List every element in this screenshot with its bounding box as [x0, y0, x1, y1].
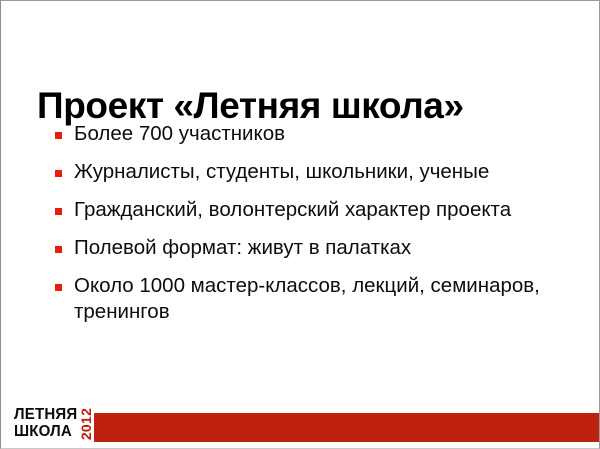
list-item: Гражданский, волонтерский характер проек…: [51, 197, 571, 223]
list-item-label: Полевой формат: живут в палатках: [74, 235, 571, 261]
list-item: Полевой формат: живут в палатках: [51, 235, 571, 261]
bullet-square-icon: [55, 132, 62, 139]
list-item: Журналисты, студенты, школьники, ученые: [51, 159, 571, 185]
list-item: Более 700 участников: [51, 121, 571, 147]
slide-footer: ЛЕТНЯЯ ШКОЛА 2012: [1, 404, 599, 446]
bullet-square-icon: [55, 208, 62, 215]
slide-title: Проект «Летняя школа»: [37, 86, 577, 126]
summer-school-logo: ЛЕТНЯЯ ШКОЛА: [14, 405, 80, 441]
logo-year-vertical: 2012: [79, 406, 93, 441]
footer-red-band: [94, 413, 599, 442]
logo-line-shkola: ШКОЛА: [14, 423, 78, 440]
presentation-slide: Проект «Летняя школа» Более 700 участник…: [0, 0, 600, 449]
bullet-square-icon: [55, 284, 62, 291]
bullet-square-icon: [55, 246, 62, 253]
list-item-label: Более 700 участников: [74, 121, 571, 147]
logo-year-label: 2012: [78, 407, 94, 439]
list-item-label: Журналисты, студенты, школьники, ученые: [74, 159, 571, 185]
list-item-label: Около 1000 мастер-классов, лекций, семин…: [74, 273, 571, 325]
list-item-label: Гражданский, волонтерский характер проек…: [74, 197, 571, 223]
bullet-list: Более 700 участников Журналисты, студент…: [51, 121, 571, 325]
bullet-square-icon: [55, 170, 62, 177]
list-item: Около 1000 мастер-классов, лекций, семин…: [51, 273, 571, 325]
logo-line-letnyaya: ЛЕТНЯЯ: [14, 406, 78, 423]
